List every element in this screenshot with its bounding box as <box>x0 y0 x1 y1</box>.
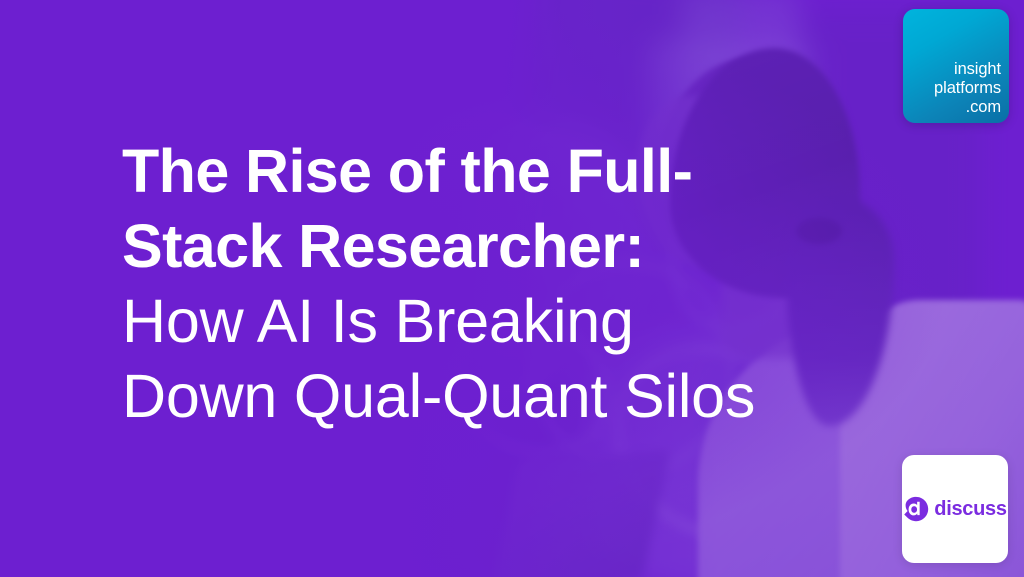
discuss-logo[interactable]: discuss <box>902 455 1008 563</box>
promo-banner: The Rise of the Full- Stack Researcher: … <box>0 0 1024 577</box>
blurred-laptop <box>490 450 671 577</box>
headline-line-1: The Rise of the Full- <box>122 134 922 209</box>
discuss-wordmark: discuss <box>934 499 1006 519</box>
insight-platforms-line-2: platforms <box>934 79 1001 98</box>
headline-line-4: Down Qual-Quant Silos <box>122 359 922 434</box>
headline-block: The Rise of the Full- Stack Researcher: … <box>122 134 922 434</box>
insight-platforms-logo[interactable]: insight platforms .com <box>903 9 1009 123</box>
headline-line-3: How AI Is Breaking <box>122 284 922 359</box>
insight-platforms-line-3: .com <box>934 98 1001 117</box>
discuss-d-mark-icon <box>903 496 929 522</box>
insight-platforms-line-1: insight <box>934 60 1001 79</box>
insight-platforms-wordmark: insight platforms .com <box>934 60 1001 117</box>
headline-line-2: Stack Researcher: <box>122 209 922 284</box>
